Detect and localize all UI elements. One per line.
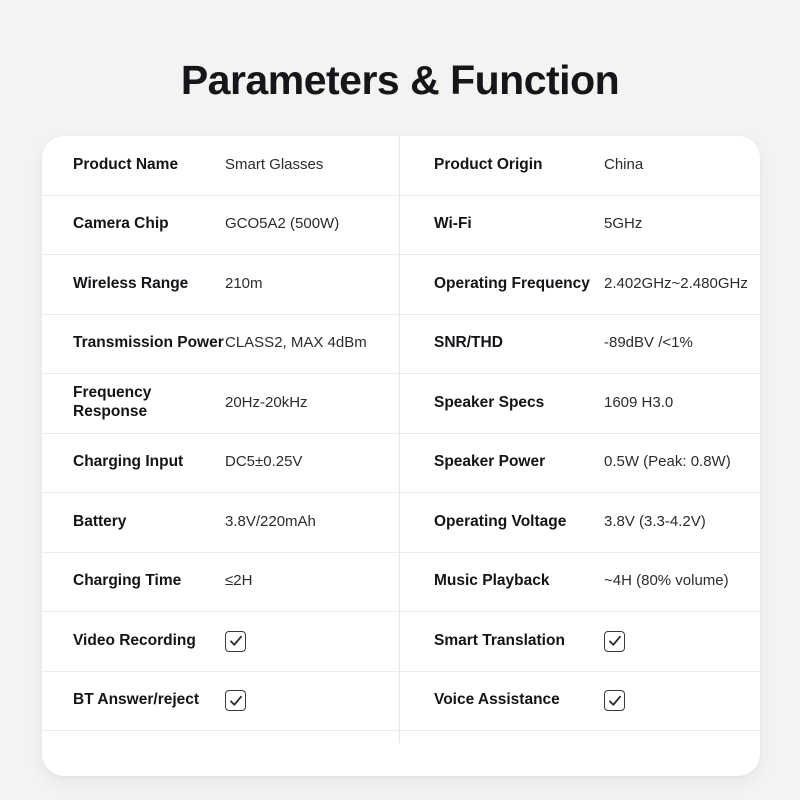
spec-value: -89dBV /<1% bbox=[604, 334, 693, 353]
spec-label: Voice Assistance bbox=[434, 691, 604, 710]
spec-label: Camera Chip bbox=[73, 215, 225, 234]
spec-label: Music Playback bbox=[434, 572, 604, 591]
spec-label: Battery bbox=[73, 513, 225, 532]
spec-value: 1609 H3.0 bbox=[604, 394, 673, 413]
spec-label: Frequency Response bbox=[73, 384, 225, 422]
spec-cell: Wi-Fi5GHz bbox=[399, 196, 760, 255]
spec-cell: Operating Frequency2.402GHz~2.480GHz bbox=[399, 255, 760, 314]
spec-value: ~4H (80% volume) bbox=[604, 572, 729, 591]
page-root: Parameters & Function Product NameSmart … bbox=[0, 0, 800, 800]
spec-cell: Charging InputDC5±0.25V bbox=[42, 434, 399, 493]
spec-value: ≤2H bbox=[225, 572, 252, 591]
spec-label: Operating Frequency bbox=[434, 275, 604, 294]
spec-cell: Battery3.8V/220mAh bbox=[42, 493, 399, 552]
spec-label: Charging Input bbox=[73, 453, 225, 472]
spec-value: 5GHz bbox=[604, 215, 642, 234]
table-row: Frequency Response20Hz-20kHzSpeaker Spec… bbox=[42, 374, 760, 434]
spec-label: SNR/THD bbox=[434, 334, 604, 353]
spec-value: 210m bbox=[225, 275, 263, 294]
spec-cell: Wireless Range210m bbox=[42, 255, 399, 314]
table-row: BT Answer/rejectVoice Assistance bbox=[42, 672, 760, 732]
spec-value: 3.8V (3.3-4.2V) bbox=[604, 513, 706, 532]
spec-value: DC5±0.25V bbox=[225, 453, 302, 472]
table-row: Battery3.8V/220mAhOperating Voltage3.8V … bbox=[42, 493, 760, 553]
spec-cell: Transmission PowerCLASS2, MAX 4dBm bbox=[42, 315, 399, 374]
spec-cell: Voice Assistance bbox=[399, 672, 760, 731]
spec-label: BT Answer/reject bbox=[73, 691, 225, 710]
card-bottom-spacer bbox=[42, 731, 760, 763]
spec-cell: Speaker Power0.5W (Peak: 0.8W) bbox=[399, 434, 760, 493]
spec-label: Charging Time bbox=[73, 572, 225, 591]
specifications-table: Product NameSmart GlassesProduct OriginC… bbox=[42, 136, 760, 731]
spec-label: Product Name bbox=[73, 156, 225, 175]
table-row: Transmission PowerCLASS2, MAX 4dBmSNR/TH… bbox=[42, 315, 760, 375]
spec-value: CLASS2, MAX 4dBm bbox=[225, 334, 367, 353]
spec-label: Speaker Specs bbox=[434, 394, 604, 413]
table-row: Video RecordingSmart Translation bbox=[42, 612, 760, 672]
specifications-card: Product NameSmart GlassesProduct OriginC… bbox=[42, 136, 760, 776]
spec-value: GCO5A2 (500W) bbox=[225, 215, 339, 234]
spec-value: Smart Glasses bbox=[225, 156, 323, 175]
spec-cell: Operating Voltage3.8V (3.3-4.2V) bbox=[399, 493, 760, 552]
spec-cell: Frequency Response20Hz-20kHz bbox=[42, 374, 399, 433]
spec-checkbox[interactable] bbox=[225, 690, 246, 711]
spec-label: Transmission Power bbox=[73, 334, 225, 353]
spec-label: Smart Translation bbox=[434, 632, 604, 651]
table-row: Charging Time≤2HMusic Playback~4H (80% v… bbox=[42, 553, 760, 613]
spec-label: Product Origin bbox=[434, 156, 604, 175]
spec-cell: SNR/THD-89dBV /<1% bbox=[399, 315, 760, 374]
spec-checkbox[interactable] bbox=[604, 631, 625, 652]
spec-cell: BT Answer/reject bbox=[42, 672, 399, 731]
spec-label: Video Recording bbox=[73, 632, 225, 651]
table-row: Wireless Range210mOperating Frequency2.4… bbox=[42, 255, 760, 315]
spec-cell: Music Playback~4H (80% volume) bbox=[399, 553, 760, 612]
spec-value: 20Hz-20kHz bbox=[225, 394, 308, 413]
page-title: Parameters & Function bbox=[0, 56, 800, 105]
spec-cell: Video Recording bbox=[42, 612, 399, 671]
spec-label: Operating Voltage bbox=[434, 513, 604, 532]
spec-cell: Camera ChipGCO5A2 (500W) bbox=[42, 196, 399, 255]
spec-value: 3.8V/220mAh bbox=[225, 513, 316, 532]
spec-cell: Product NameSmart Glasses bbox=[42, 136, 399, 195]
spec-value: 0.5W (Peak: 0.8W) bbox=[604, 453, 731, 472]
spec-label: Wireless Range bbox=[73, 275, 225, 294]
spec-checkbox[interactable] bbox=[225, 631, 246, 652]
spec-label: Wi-Fi bbox=[434, 215, 604, 234]
spec-checkbox[interactable] bbox=[604, 690, 625, 711]
spec-cell: Charging Time≤2H bbox=[42, 553, 399, 612]
spec-value: 2.402GHz~2.480GHz bbox=[604, 275, 748, 294]
spec-cell: Speaker Specs1609 H3.0 bbox=[399, 374, 760, 433]
spec-value: China bbox=[604, 156, 643, 175]
spec-cell: Smart Translation bbox=[399, 612, 760, 671]
table-row: Charging InputDC5±0.25VSpeaker Power0.5W… bbox=[42, 434, 760, 494]
table-row: Camera ChipGCO5A2 (500W)Wi-Fi5GHz bbox=[42, 196, 760, 256]
spec-label: Speaker Power bbox=[434, 453, 604, 472]
table-row: Product NameSmart GlassesProduct OriginC… bbox=[42, 136, 760, 196]
spec-cell: Product OriginChina bbox=[399, 136, 760, 195]
